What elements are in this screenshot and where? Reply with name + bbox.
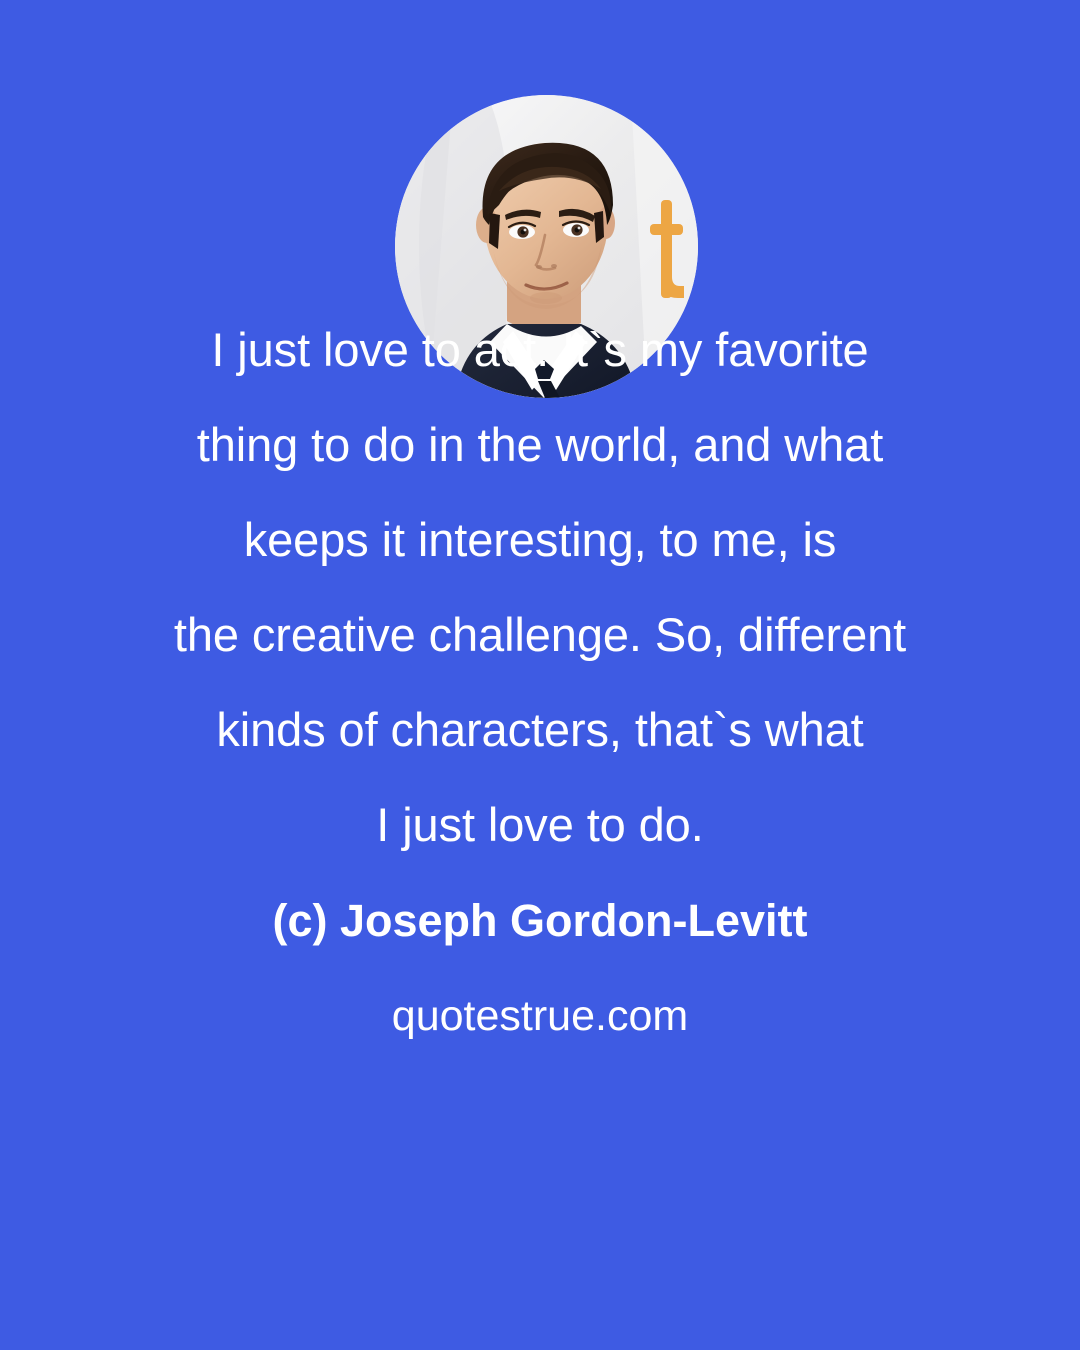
quote-card: I just love to act. It`s my favorite thi… [0,0,1080,1350]
quote-attribution: (c) Joseph Gordon-Levitt [0,893,1080,949]
quote-line-1: I just love to act. It`s my favorite [0,302,1080,397]
quote-text: I just love to act. It`s my favorite thi… [0,302,1080,872]
quote-line-6: I just love to do. [0,777,1080,872]
quote-line-4: the creative challenge. So, different [0,587,1080,682]
quote-line-2: thing to do in the world, and what [0,397,1080,492]
quote-line-5: kinds of characters, that`s what [0,682,1080,777]
source-website: quotestrue.com [0,988,1080,1044]
quote-line-3: keeps it interesting, to me, is [0,492,1080,587]
